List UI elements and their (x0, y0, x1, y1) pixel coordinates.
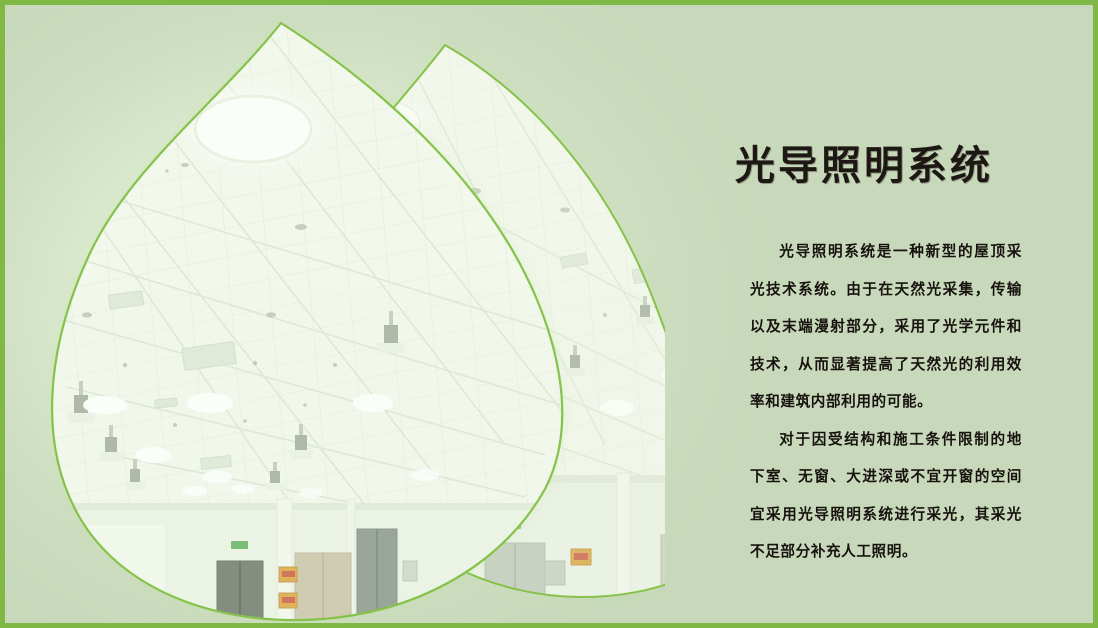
body-text: 光导照明系统是一种新型的屋顶采光技术系统。由于在天然光采集，传输以及末端漫射部分… (750, 233, 1022, 571)
leaf-illustration-svg (5, 5, 665, 623)
slide-canvas: 光导照明系统 光导照明系统是一种新型的屋顶采光技术系统。由于在天然光采集，传输以… (0, 0, 1098, 628)
leaf-photo-collage (5, 5, 665, 623)
page-title: 光导照明系统 (735, 133, 993, 191)
text-column: 光导照明系统 光导照明系统是一种新型的屋顶采光技术系统。由于在天然光采集，传输以… (695, 5, 1055, 623)
paragraph-1: 光导照明系统是一种新型的屋顶采光技术系统。由于在天然光采集，传输以及末端漫射部分… (750, 233, 1022, 421)
paragraph-2: 对于因受结构和施工条件限制的地下室、无窗、大进深或不宜开窗的空间宜采用光导照明系… (750, 421, 1022, 571)
